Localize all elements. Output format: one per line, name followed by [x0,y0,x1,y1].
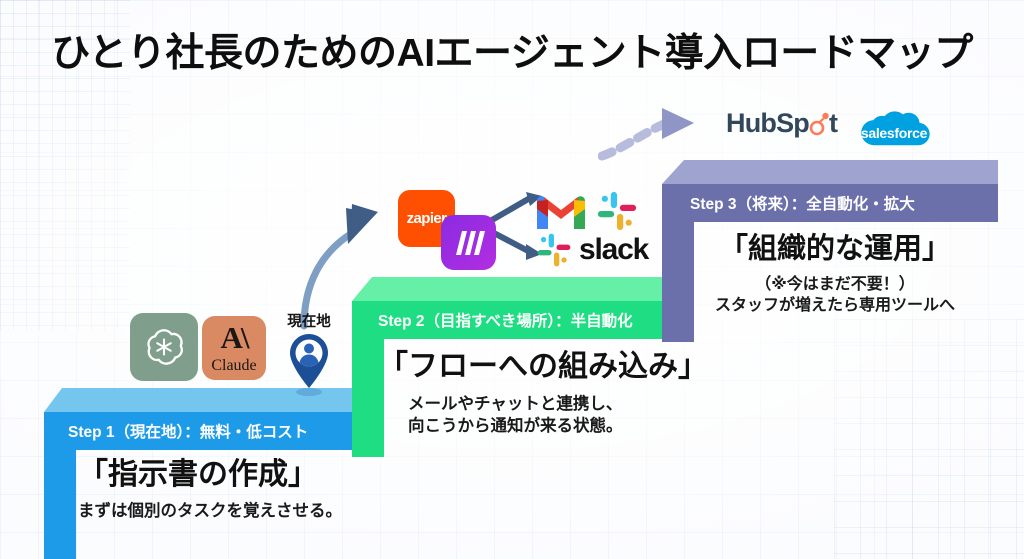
step-1-description: まずは個別のタスクを覚えさせる。 [78,500,342,522]
hubspot-wordmark-part2: t [829,108,837,139]
slack-wordmark: slack [579,233,648,267]
salesforce-wordmark: salesforce [851,104,937,160]
step-1-band: Step 1（現在地）：無料・低コスト [44,412,376,450]
slack-logo-mark-top [596,190,638,232]
salesforce-logo: salesforce [851,104,937,160]
hubspot-sprocket-icon [808,111,830,137]
step-3-heading: 「組織的な運用」 [672,225,998,267]
make-logo [441,215,496,270]
step-1-heading: 「指示書の作成」 [78,449,342,493]
hubspot-logo: HubSp t [726,108,837,139]
step-3-text-block: 「組織的な運用」 （※今はまだ不要！） スタッフが増えたら専用ツールへ [672,225,998,317]
hubspot-wordmark-part1: HubSp [726,108,809,139]
current-location-marker: 現在地 [283,310,335,402]
claude-logo: A\ Claude [202,316,266,380]
claude-mark: A\ [202,320,266,356]
current-location-label: 現在地 [283,310,335,331]
arrow-step2-to-step3 [598,104,702,162]
step-2-description-line2: 向こうから通知が来る状態。 [408,415,708,437]
step-2-heading: 「フローへの組み込み」 [378,341,708,385]
step-3-description-line2: スタッフが増えたら専用ツールへ [672,295,998,316]
step-2-text-block: 「フローへの組み込み」 メールやチャットと連携し、 向こうから通知が来る状態。 [378,341,708,437]
arrow-to-slack [492,232,530,252]
gmail-logo [535,191,587,231]
step-1-text-block: 「指示書の作成」 まずは個別のタスクを覚えさせる。 [78,449,342,522]
location-pin-person-icon [283,331,335,397]
slack-logo-mark [536,232,572,268]
step-3-band-label: Step 3（将来）：全自動化・拡大 [662,192,915,214]
step-3-platform-top [662,160,998,184]
page-title: ひとり社長のためのAIエージェント導入ロードマップ [0,22,1024,78]
background-grid-detail-right [834,319,1024,559]
slack-logo: slack [536,232,648,268]
openai-chatgpt-logo [130,313,198,381]
arrow-to-gmail [492,198,530,220]
step-1-riser [44,450,76,559]
step-3-description: （※今はまだ不要！） スタッフが増えたら専用ツールへ [672,274,998,317]
step-3-band: Step 3（将来）：全自動化・拡大 [662,184,998,222]
claude-wordmark: Claude [202,357,266,375]
step-3-description-line1: （※今はまだ不要！） [672,274,998,295]
step-2-description-line1: メールやチャットと連携し、 [408,393,708,415]
step-2-description: メールやチャットと連携し、 向こうから通知が来る状態。 [408,393,708,437]
step-1-band-label: Step 1（現在地）：無料・低コスト [44,420,308,442]
